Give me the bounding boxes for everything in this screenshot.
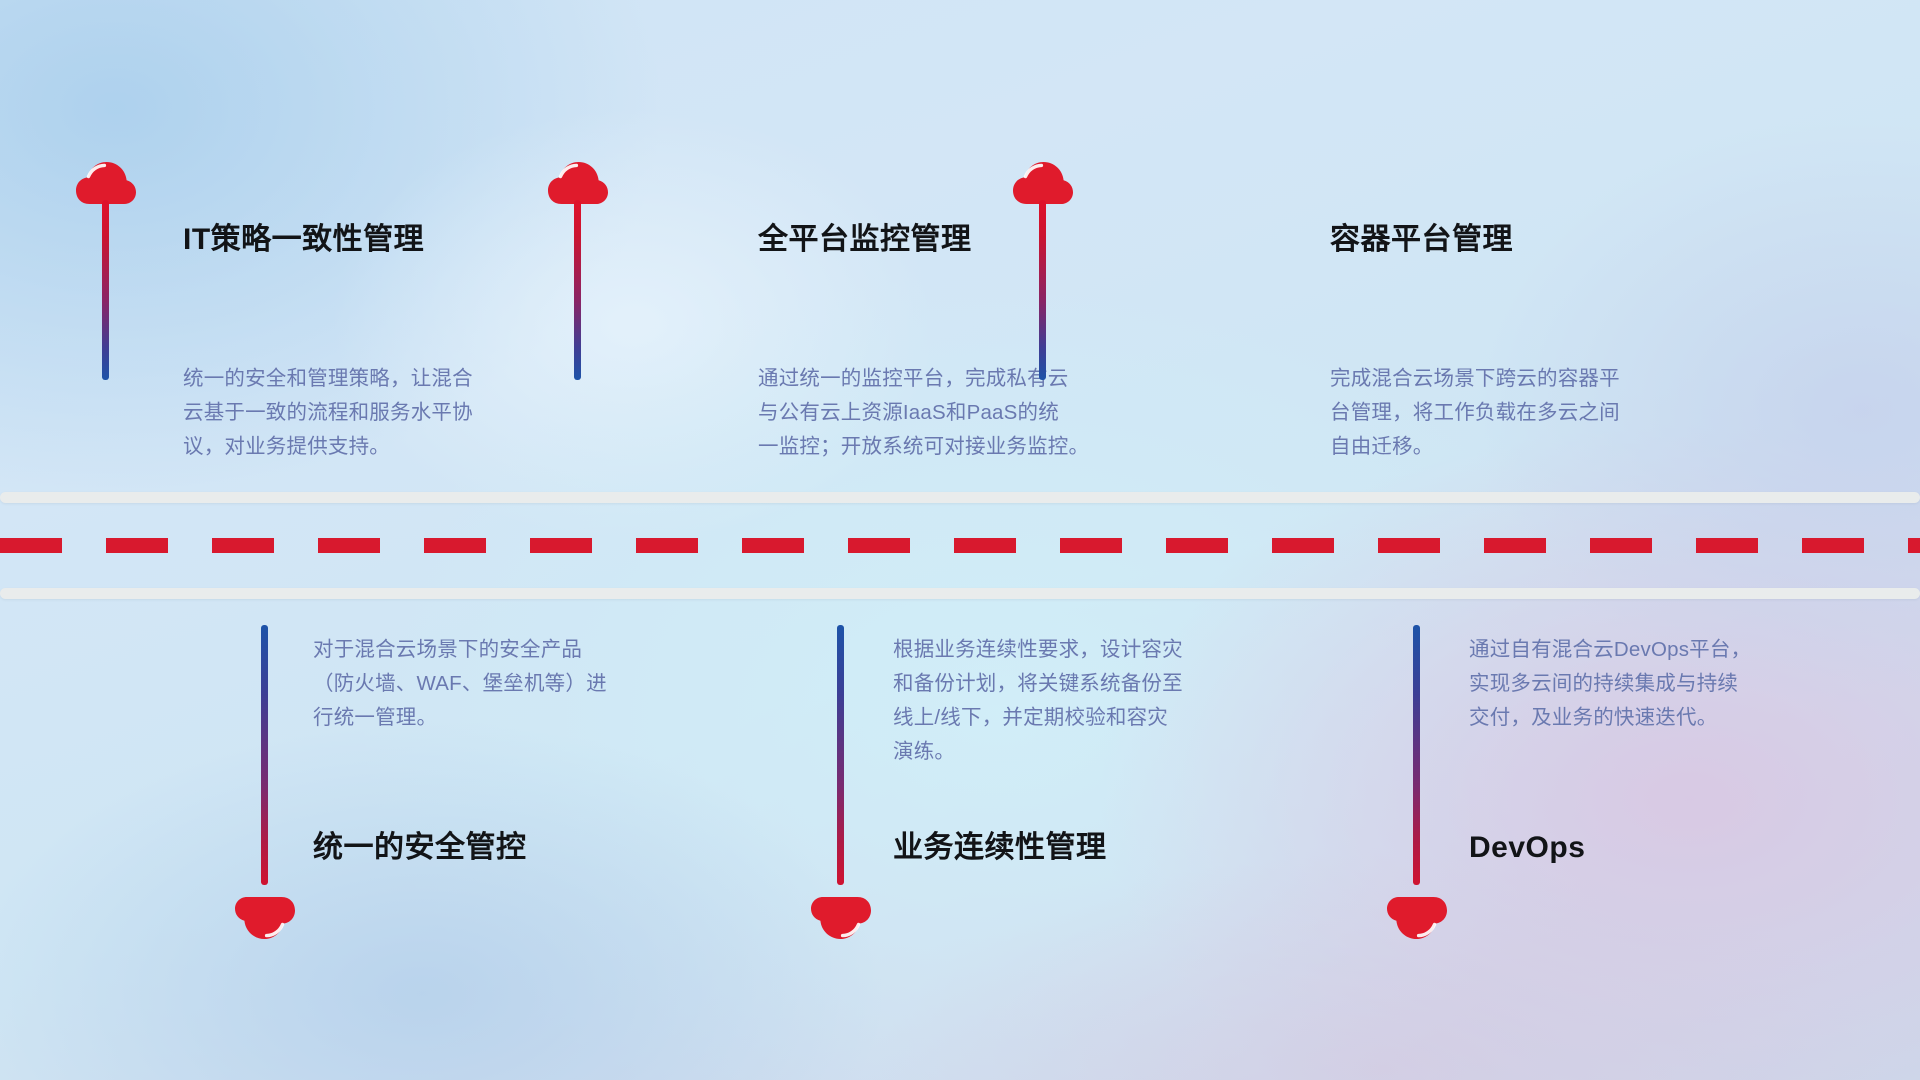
top-body-3: 完成混合云场景下跨云的容器平 台管理，将工作负载在多云之间 自由迁移。	[1330, 362, 1620, 464]
road-rail-bottom	[0, 588, 1920, 599]
top-stem-2	[574, 200, 581, 380]
bottom-title-2: 业务连续性管理	[893, 833, 1107, 863]
top-body-1: 统一的安全和管理策略，让混合 云基于一致的流程和服务水平协 议，对业务提供支持。	[183, 362, 473, 464]
road-rail-top	[0, 492, 1920, 503]
bottom-body-1: 对于混合云场景下的安全产品 （防火墙、WAF、堡垒机等）进 行统一管理。	[313, 633, 607, 735]
cloud-icon	[1386, 895, 1448, 941]
top-stem-3	[1039, 200, 1046, 380]
top-title-1: IT策略一致性管理	[183, 225, 424, 255]
bottom-stem-2	[837, 625, 844, 885]
road-dashed-centerline	[0, 538, 1920, 553]
cloud-icon	[234, 895, 296, 941]
top-title-2: 全平台监控管理	[758, 225, 972, 255]
bottom-title-3: DevOps	[1469, 833, 1585, 863]
bottom-body-2: 根据业务连续性要求，设计容灾 和备份计划，将关键系统备份至 线上/线下，并定期校…	[893, 633, 1183, 769]
bottom-stem-3	[1413, 625, 1420, 885]
cloud-icon	[810, 895, 872, 941]
top-stem-1	[102, 200, 109, 380]
bottom-title-1: 统一的安全管控	[313, 833, 527, 863]
bottom-body-3: 通过自有混合云DevOps平台， 实现多云间的持续集成与持续 交付，及业务的快速…	[1469, 633, 1751, 735]
top-title-3: 容器平台管理	[1330, 225, 1513, 255]
infographic-canvas: IT策略一致性管理 统一的安全和管理策略，让混合 云基于一致的流程和服务水平协 …	[0, 0, 1920, 1080]
bottom-stem-1	[261, 625, 268, 885]
